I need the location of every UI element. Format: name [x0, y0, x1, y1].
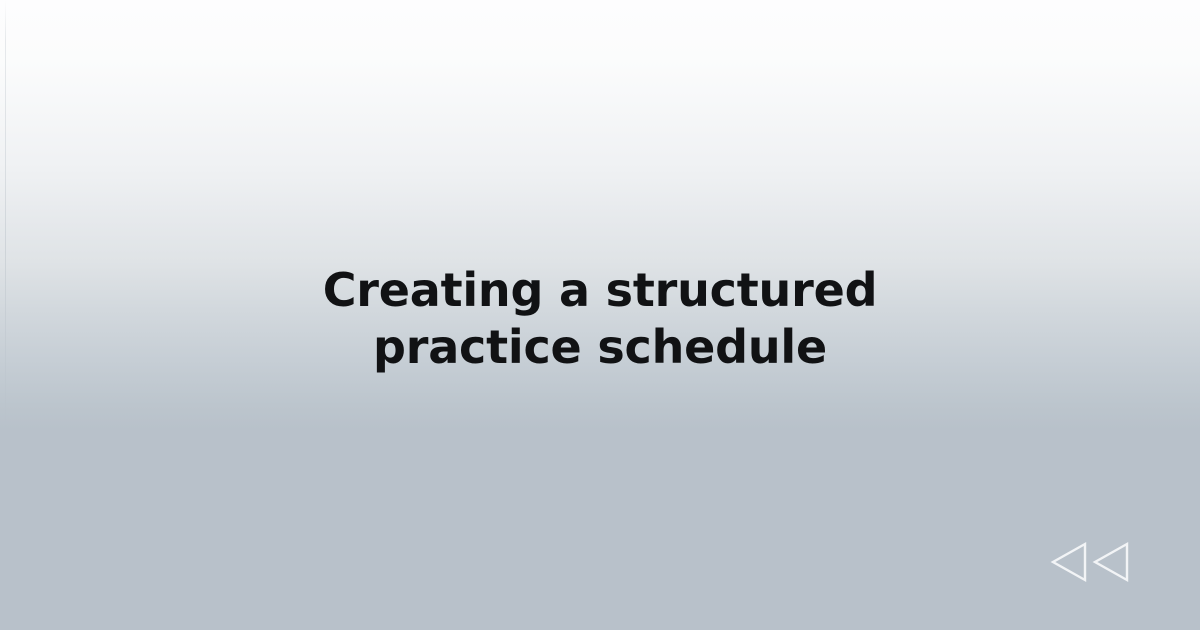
rewind-button[interactable]: [1049, 542, 1131, 582]
title-block: Creating a structured practice schedule: [0, 262, 1200, 376]
rewind-icon: [1049, 542, 1131, 582]
rewind-triangle-1: [1053, 544, 1085, 580]
slide-canvas: Creating a structured practice schedule: [0, 0, 1200, 630]
page-title: Creating a structured practice schedule: [90, 262, 1110, 376]
rewind-triangle-2: [1095, 544, 1127, 580]
